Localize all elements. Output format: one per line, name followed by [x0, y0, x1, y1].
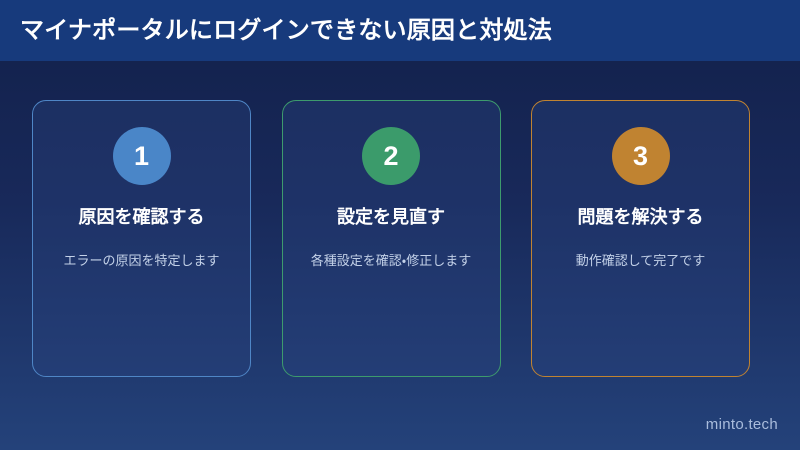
- step-number-badge-3: 3: [612, 127, 670, 185]
- step-number-2: 2: [383, 143, 398, 170]
- step-description-1: エラーの原因を特定します: [59, 228, 223, 269]
- slide-canvas: マイナポータルにログインできない原因と対処法 1 原因を確認する エラーの原因を…: [0, 0, 800, 450]
- step-card-1[interactable]: 1 原因を確認する エラーの原因を特定します: [32, 100, 251, 377]
- steps-container: 1 原因を確認する エラーの原因を特定します 2 設定を見直す 各種設定を確認・…: [32, 100, 750, 377]
- page-title: マイナポータルにログインできない原因と対処法: [0, 16, 552, 46]
- step-number-badge-1: 1: [113, 127, 171, 185]
- brand-watermark: minto.tech: [706, 416, 778, 434]
- step-card-3[interactable]: 3 問題を解決する 動作確認して完了です: [531, 100, 750, 377]
- step-number-1: 1: [134, 143, 149, 170]
- slide-header: マイナポータルにログインできない原因と対処法: [0, 0, 800, 61]
- step-title-1: 原因を確認する: [73, 185, 211, 228]
- step-number-3: 3: [633, 143, 648, 170]
- step-description-3: 動作確認して完了です: [572, 228, 710, 269]
- step-description-2: 各種設定を確認・修正します: [307, 228, 475, 269]
- step-title-3: 問題を解決する: [572, 185, 710, 228]
- step-number-badge-2: 2: [362, 127, 420, 185]
- step-card-2[interactable]: 2 設定を見直す 各種設定を確認・修正します: [282, 100, 501, 377]
- step-title-2: 設定を見直す: [331, 185, 451, 228]
